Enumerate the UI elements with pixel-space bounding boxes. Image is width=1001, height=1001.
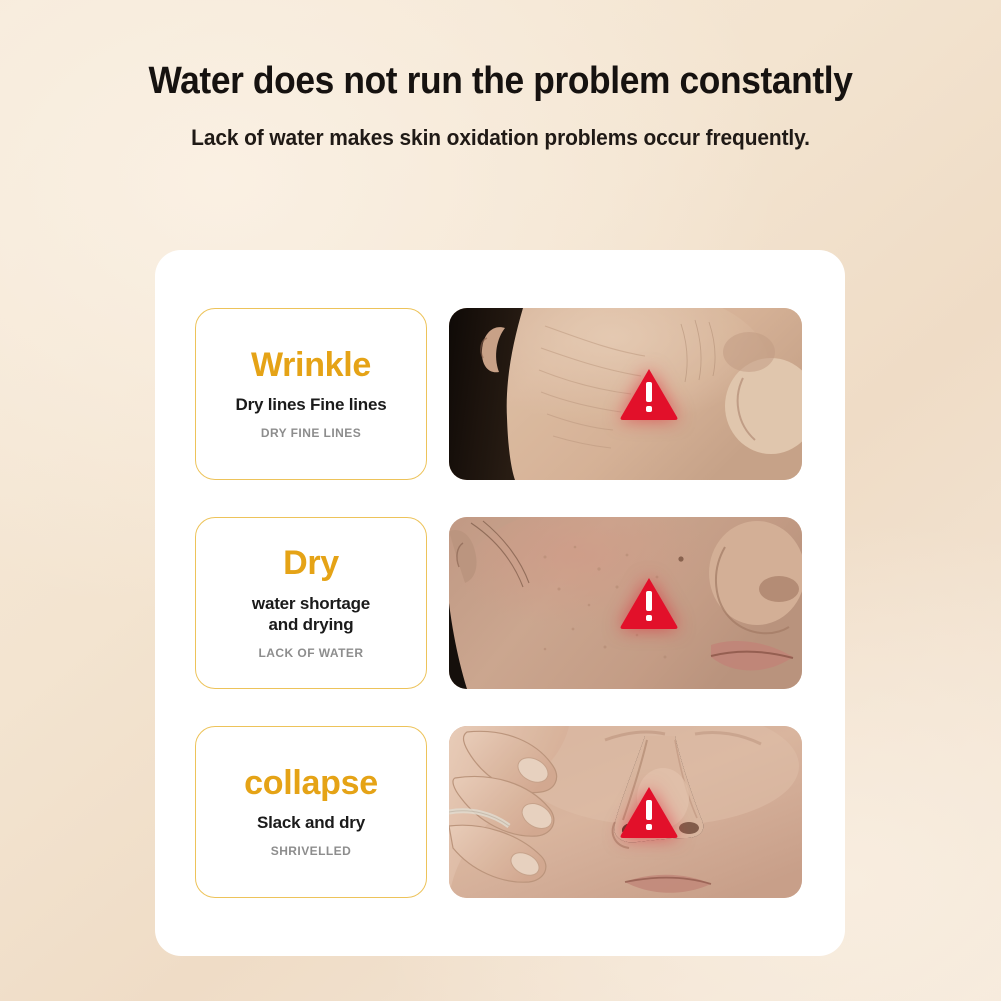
label-card-collapse[interactable]: collapse Slack and dry SHRIVELLED: [195, 726, 427, 898]
problem-row-dry: Dry water shortage and drying LACK OF WA…: [195, 517, 802, 689]
warning-triangle-icon: [618, 784, 680, 840]
label-caption: SHRIVELLED: [271, 844, 352, 858]
label-headline: Wrinkle: [251, 348, 371, 384]
label-card-wrinkle[interactable]: Wrinkle Dry lines Fine lines DRY FINE LI…: [195, 308, 427, 480]
content-panel: Wrinkle Dry lines Fine lines DRY FINE LI…: [155, 250, 845, 956]
page-title: Water does not run the problem constantl…: [35, 60, 966, 103]
page-subtitle: Lack of water makes skin oxidation probl…: [25, 125, 976, 151]
problem-row-list: Wrinkle Dry lines Fine lines DRY FINE LI…: [155, 250, 845, 956]
label-subtitle: Slack and dry: [257, 813, 365, 834]
label-card-dry[interactable]: Dry water shortage and drying LACK OF WA…: [195, 517, 427, 689]
photo-wrinkle[interactable]: [449, 308, 802, 480]
label-headline: collapse: [244, 766, 378, 802]
warning-triangle-icon: [618, 366, 680, 422]
label-caption: LACK OF WATER: [259, 646, 364, 660]
warning-triangle-icon: [618, 575, 680, 631]
photo-collapse[interactable]: [449, 726, 802, 898]
label-subtitle: Dry lines Fine lines: [236, 395, 387, 416]
label-subtitle: water shortage and drying: [252, 594, 370, 635]
photo-dry[interactable]: [449, 517, 802, 689]
page-header: Water does not run the problem constantl…: [0, 0, 1001, 151]
problem-row-wrinkle: Wrinkle Dry lines Fine lines DRY FINE LI…: [195, 308, 802, 480]
label-caption: DRY FINE LINES: [261, 426, 361, 440]
label-headline: Dry: [283, 546, 339, 582]
problem-row-collapse: collapse Slack and dry SHRIVELLED: [195, 726, 802, 898]
